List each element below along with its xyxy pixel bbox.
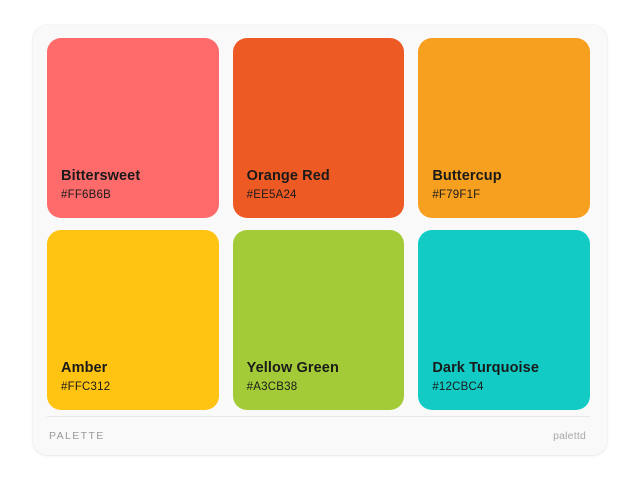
swatch-color-name: Dark Turquoise <box>432 359 590 377</box>
color-swatch[interactable]: Orange Red #EE5A24 <box>233 38 405 218</box>
swatch-hex-code: #FF6B6B <box>61 187 219 204</box>
swatch-hex-code: #A3CB38 <box>247 379 405 396</box>
color-swatch-grid: Bittersweet #FF6B6B Orange Red #EE5A24 B… <box>47 38 590 416</box>
color-swatch[interactable]: Amber #FFC312 <box>47 230 219 410</box>
swatch-color-name: Orange Red <box>247 167 405 185</box>
swatch-hex-code: #EE5A24 <box>247 187 405 204</box>
swatch-hex-code: #F79F1F <box>432 187 590 204</box>
swatch-hex-code: #12CBC4 <box>432 379 590 396</box>
swatch-color-name: Buttercup <box>432 167 590 185</box>
palette-footer: PALETTE palettd <box>47 416 590 455</box>
swatch-color-name: Amber <box>61 359 219 377</box>
palette-card: Bittersweet #FF6B6B Orange Red #EE5A24 B… <box>33 25 607 455</box>
color-swatch[interactable]: Dark Turquoise #12CBC4 <box>418 230 590 410</box>
page-root: Bittersweet #FF6B6B Orange Red #EE5A24 B… <box>0 0 640 480</box>
swatch-hex-code: #FFC312 <box>61 379 219 396</box>
color-swatch[interactable]: Yellow Green #A3CB38 <box>233 230 405 410</box>
color-swatch[interactable]: Bittersweet #FF6B6B <box>47 38 219 218</box>
swatch-color-name: Yellow Green <box>247 359 405 377</box>
footer-brand-label: palettd <box>553 430 586 442</box>
footer-palette-label: PALETTE <box>49 430 105 442</box>
swatch-color-name: Bittersweet <box>61 167 219 185</box>
color-swatch[interactable]: Buttercup #F79F1F <box>418 38 590 218</box>
